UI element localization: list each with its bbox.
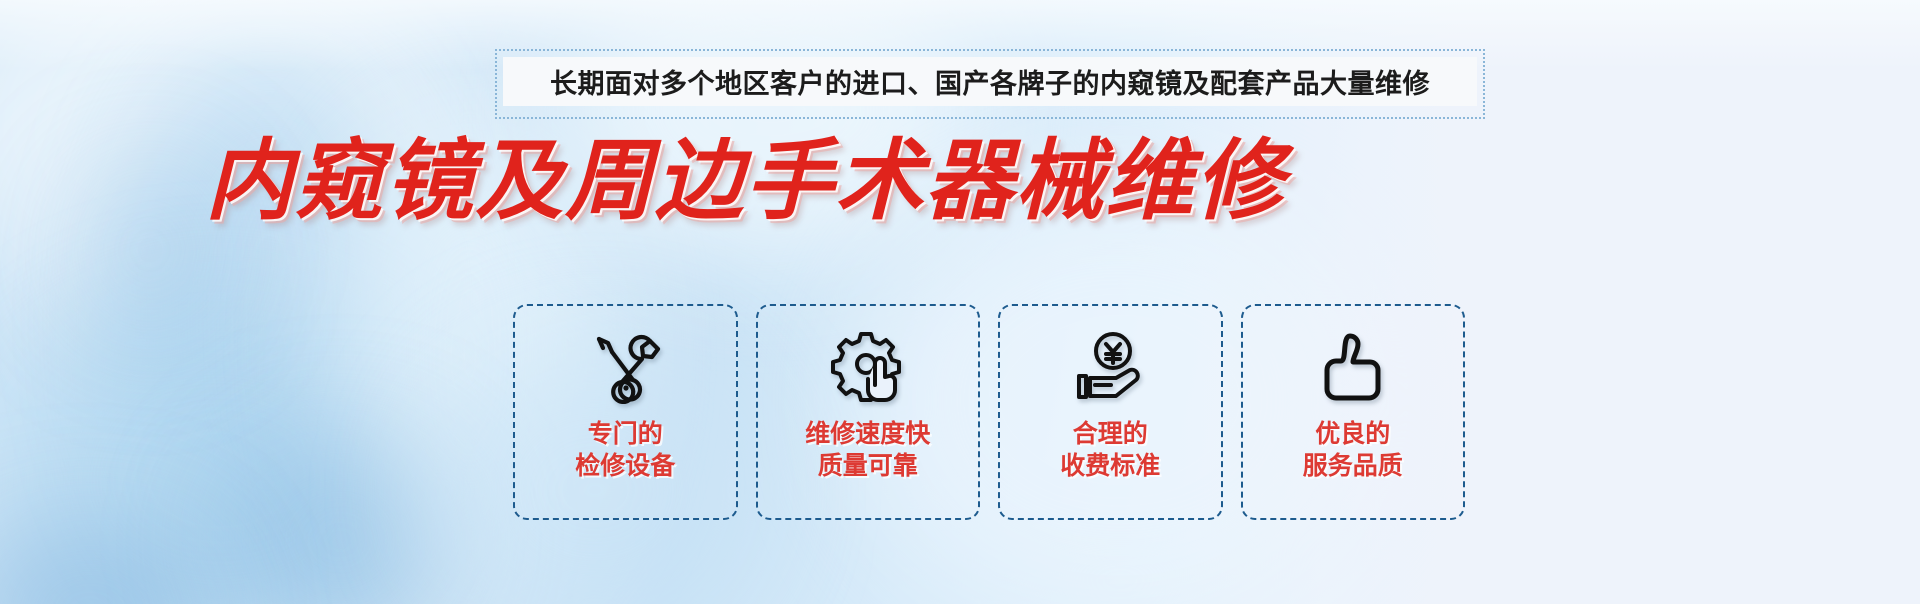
feature-card-fair-pricing[interactable]: 合理的 收费标准 [998, 304, 1223, 520]
feature-label-line-1: 维修速度快 [805, 418, 930, 450]
hand-holding-yuan-icon [1069, 324, 1151, 410]
feature-card-label: 优良的 服务品质 [1303, 418, 1403, 482]
screwdriver-wrench-icon [586, 324, 664, 410]
feature-card-row: 专门的 检修设备 维修速度快 [513, 304, 1465, 520]
feature-label-line-1: 优良的 [1303, 418, 1403, 450]
feature-card-label: 合理的 收费标准 [1060, 418, 1160, 482]
thumbs-up-icon [1314, 324, 1392, 410]
feature-label-line-2: 检修设备 [575, 450, 675, 482]
feature-card-specialized-equipment[interactable]: 专门的 检修设备 [513, 304, 738, 520]
banner-content: 长期面对多个地区客户的进口、国产各牌子的内窥镜及配套产品大量维修 内窥镜及周边手… [0, 0, 1920, 604]
promo-banner: 长期面对多个地区客户的进口、国产各牌子的内窥镜及配套产品大量维修 内窥镜及周边手… [0, 0, 1920, 604]
feature-label-line-2: 质量可靠 [805, 450, 930, 482]
page-title: 内窥镜及周边手术器械维修 [0, 130, 1920, 231]
subtitle-container: 长期面对多个地区客户的进口、国产各牌子的内窥镜及配套产品大量维修 [503, 57, 1477, 106]
feature-label-line-2: 服务品质 [1303, 450, 1403, 482]
feature-card-fast-reliable-repair[interactable]: 维修速度快 质量可靠 [756, 304, 981, 520]
feature-label-line-1: 合理的 [1060, 418, 1160, 450]
feature-card-label: 维修速度快 质量可靠 [805, 418, 930, 482]
feature-card-service-quality[interactable]: 优良的 服务品质 [1241, 304, 1466, 520]
gear-cursor-icon [828, 324, 908, 410]
feature-card-label: 专门的 检修设备 [575, 418, 675, 482]
feature-label-line-2: 收费标准 [1060, 450, 1160, 482]
subtitle-text: 长期面对多个地区客户的进口、国产各牌子的内窥镜及配套产品大量维修 [550, 62, 1430, 101]
feature-label-line-1: 专门的 [575, 418, 675, 450]
